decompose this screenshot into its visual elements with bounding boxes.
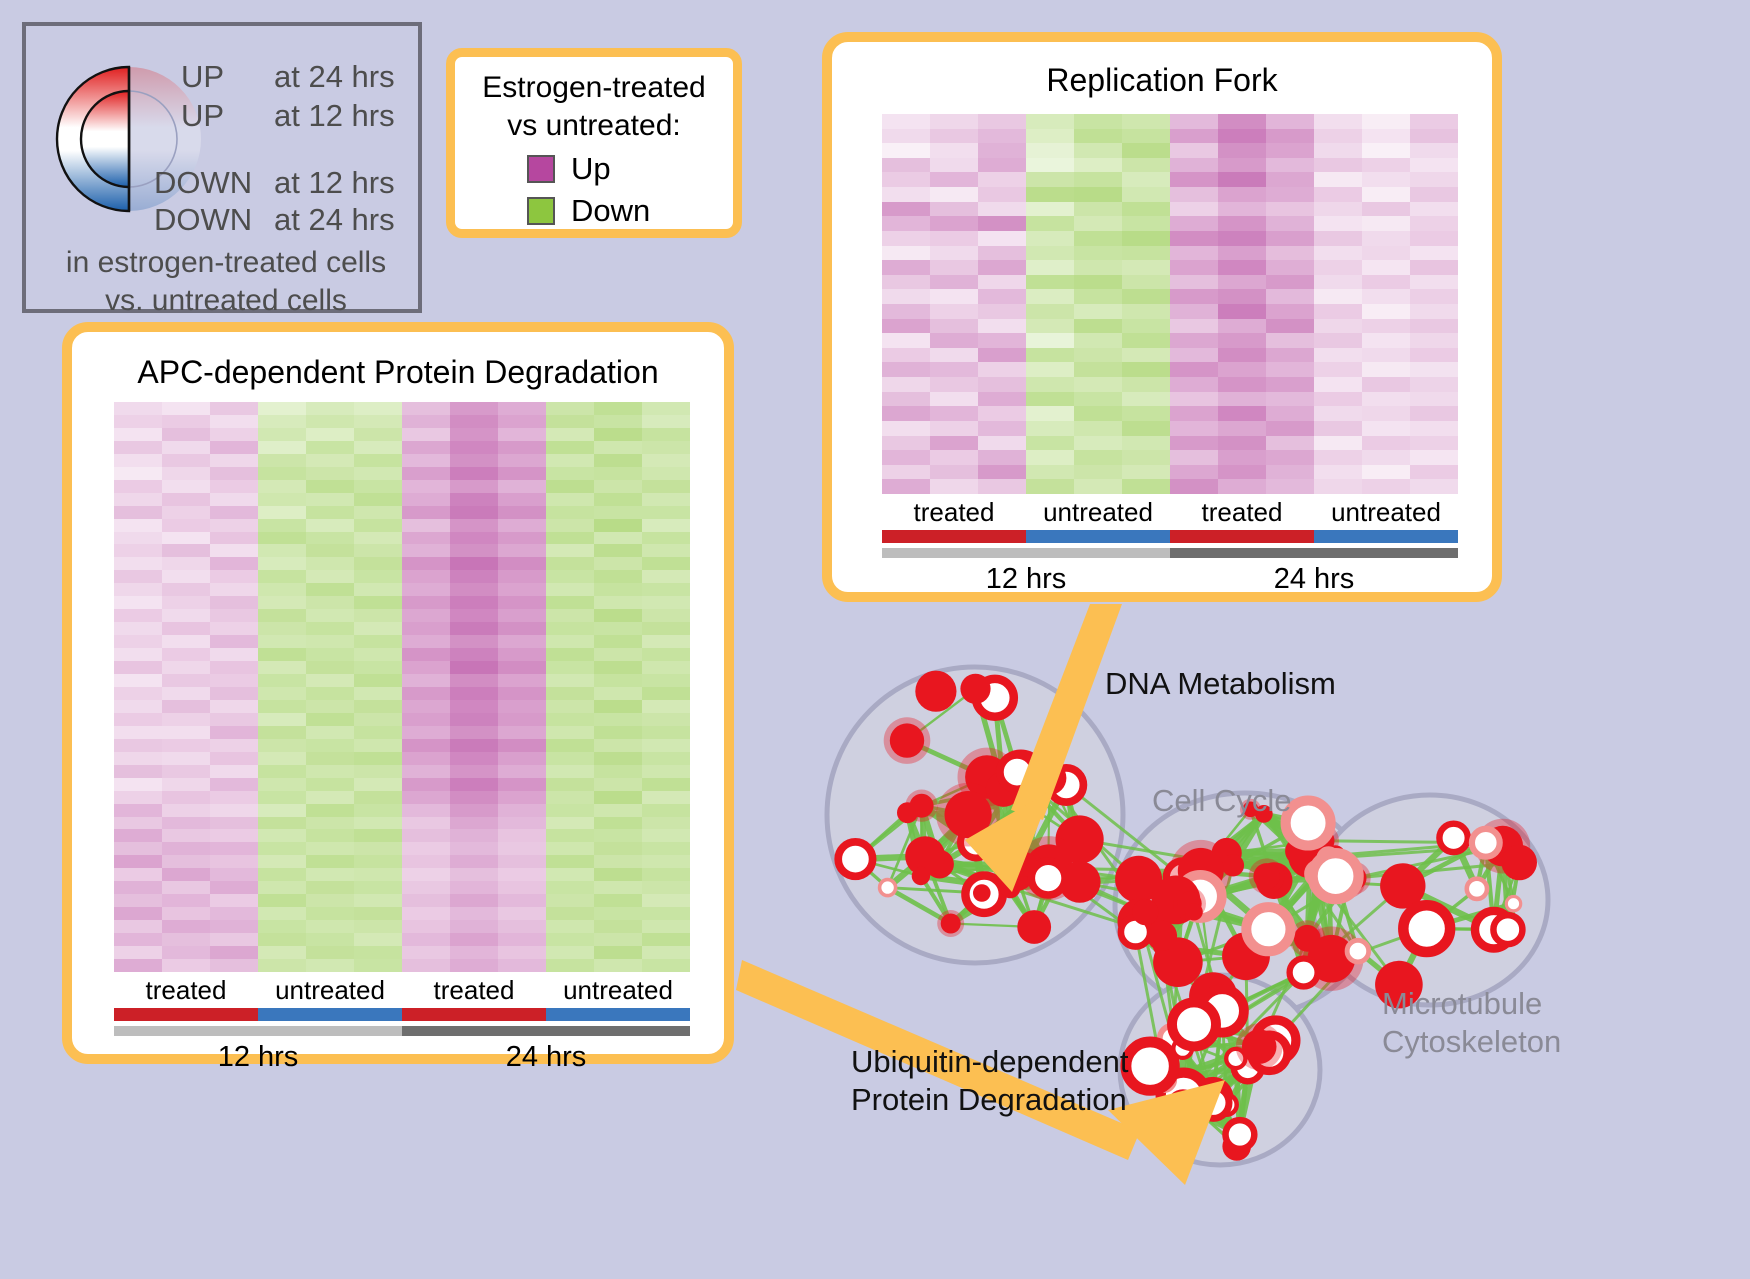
heatmap-cell [1218, 260, 1266, 275]
heatmap-cell [930, 231, 978, 246]
heatmap-cell [498, 583, 546, 596]
network-edge [1164, 1059, 1236, 1080]
heatmap-cell [162, 959, 210, 972]
heatmap-cell [930, 246, 978, 261]
network-edge [921, 806, 922, 876]
heatmap-cell [306, 804, 354, 817]
heatmap-cell [930, 406, 978, 421]
network-node [1290, 959, 1318, 987]
heatmap-cell [1122, 333, 1170, 348]
network-edge [1150, 1066, 1227, 1105]
network-node [1196, 1081, 1230, 1115]
network-node [1332, 864, 1366, 898]
network-node [1012, 852, 1037, 877]
network-edge [922, 789, 1004, 806]
network-edge [1310, 857, 1319, 874]
heatmap-cell [546, 959, 594, 972]
heatmap-cell [930, 465, 978, 480]
heatmap-cell [306, 765, 354, 778]
legend-caption: in estrogen-treated cells vs. untreated … [26, 244, 426, 320]
network-edge [1486, 843, 1514, 904]
heatmap-cell [882, 392, 930, 407]
network-edge [1213, 1098, 1237, 1147]
heatmap-cell [114, 804, 162, 817]
heatmap-cell [1314, 465, 1362, 480]
heatmap-cell [594, 804, 642, 817]
heatmap-cell [1026, 362, 1074, 377]
apc-time-bar-12 [114, 1026, 402, 1036]
heatmap-cell [930, 187, 978, 202]
heatmap-cell [882, 202, 930, 217]
network-edge [1173, 1038, 1183, 1048]
heatmap-cell [498, 829, 546, 842]
heatmap-cell [498, 635, 546, 648]
network-edge [1139, 879, 1162, 936]
network-edge [908, 813, 969, 815]
heatmap-cell [546, 907, 594, 920]
heatmap-cell [498, 752, 546, 765]
legend-row-0-label: UP [181, 59, 224, 95]
heatmap-cell [642, 648, 690, 661]
heatmap-cell [642, 493, 690, 506]
heatmap-cell [210, 752, 258, 765]
heatmap-cell [930, 289, 978, 304]
heatmap-cell [594, 583, 642, 596]
heatmap-cell [882, 362, 930, 377]
network-edge [1010, 882, 1080, 888]
heatmap-cell [930, 348, 978, 363]
apc-condition-bar [114, 1008, 690, 1021]
network-node [1294, 925, 1321, 952]
network-node [1173, 1039, 1192, 1058]
network-node [1319, 849, 1339, 869]
network-node [1177, 891, 1201, 915]
apc-cond-bar-2 [402, 1008, 546, 1021]
heatmap-cell [1266, 406, 1314, 421]
heatmap-cell [546, 506, 594, 519]
heatmap-cell [306, 920, 354, 933]
network-node [1475, 819, 1530, 874]
network-edge [1268, 855, 1335, 929]
network-edge [1150, 1066, 1213, 1103]
network-edge [1183, 956, 1246, 1048]
heatmap-cell [1074, 333, 1122, 348]
heatmap-cell [1074, 289, 1122, 304]
heatmap-cell [642, 635, 690, 648]
network-edge [1183, 1098, 1213, 1107]
heatmap-cell [450, 596, 498, 609]
replication-cond-bar-3 [1314, 530, 1458, 543]
heatmap-cell [882, 129, 930, 144]
network-edge [1267, 851, 1299, 876]
heatmap-cell [1026, 143, 1074, 158]
heatmap-cell [306, 739, 354, 752]
network-edge [1477, 843, 1486, 889]
network-edge [1162, 900, 1176, 936]
heatmap-cell [1074, 392, 1122, 407]
heatmap-cell [354, 907, 402, 920]
network-edge [1427, 904, 1514, 929]
heatmap-cell [306, 519, 354, 532]
panel-apc-title: APC-dependent Protein Degradation [72, 354, 724, 391]
heatmap-cell [1362, 436, 1410, 451]
heatmap-cell [258, 687, 306, 700]
heatmap-cell [1122, 231, 1170, 246]
apc-time-bar [114, 1026, 690, 1036]
heatmap-cell [354, 804, 402, 817]
heatmap-cell [1266, 114, 1314, 129]
heatmap-cell [1410, 436, 1458, 451]
replication-time-labels: 12 hrs 24 hrs [882, 563, 1458, 596]
connector-arrow-replication [1011, 604, 1122, 820]
network-edge [1299, 851, 1355, 878]
network-edge [908, 777, 987, 813]
heatmap-cell [882, 304, 930, 319]
heatmap-cell [114, 648, 162, 661]
network-edge [1194, 1024, 1236, 1058]
network-edge [1048, 778, 1049, 878]
network-edge [925, 856, 1015, 871]
network-edge [1183, 1049, 1240, 1135]
replication-condition-labels: treated untreated treated untreated [882, 497, 1458, 528]
heatmap-cell [402, 894, 450, 907]
heatmap-cell [306, 791, 354, 804]
heatmap-cell [546, 791, 594, 804]
network-edge [1136, 896, 1201, 932]
network-edge [1178, 962, 1222, 1011]
heatmap-cell [1026, 304, 1074, 319]
network-edge [1213, 1053, 1270, 1098]
heatmap-cell [1362, 421, 1410, 436]
heatmap-cell [402, 635, 450, 648]
network-node [1288, 835, 1331, 878]
heatmap-cell [1314, 216, 1362, 231]
heatmap-cell [1218, 289, 1266, 304]
heatmap-cell [1410, 275, 1458, 290]
heatmap-cell [882, 231, 930, 246]
heatmap-cell [306, 441, 354, 454]
network-edge [921, 876, 951, 924]
network-edge [907, 741, 987, 777]
network-edge [1268, 883, 1346, 930]
heatmap-cell [594, 713, 642, 726]
heatmap-cell [114, 428, 162, 441]
heatmap-cell [450, 428, 498, 441]
network-edge [1194, 912, 1268, 929]
heatmap-cell [162, 609, 210, 622]
legend-row-2-time: at 12 hrs [274, 165, 395, 201]
network-edge [1162, 946, 1246, 956]
legend-row-2-label: DOWN [154, 165, 252, 201]
heatmap-cell [402, 881, 450, 894]
apc-condition-labels: treated untreated treated untreated [114, 975, 690, 1006]
network-edge [1016, 868, 1049, 871]
heatmap-cell [498, 713, 546, 726]
heatmap-cell [546, 661, 594, 674]
network-edge [984, 864, 1025, 894]
network-edge [1049, 868, 1201, 871]
heatmap-cell [1122, 260, 1170, 275]
network-edge [1025, 864, 1139, 879]
network-edge [1176, 900, 1269, 929]
heatmap-cell [354, 493, 402, 506]
heatmap-cell [306, 868, 354, 881]
heatmap-cell [978, 348, 1026, 363]
heatmap-cell [1362, 465, 1410, 480]
heatmap-cell [210, 609, 258, 622]
heatmap-cell [1314, 260, 1362, 275]
heatmap-cell [450, 920, 498, 933]
network-edge [1227, 853, 1310, 857]
down-swatch-icon [527, 197, 555, 225]
heatmap-cell [306, 609, 354, 622]
network-edge [1136, 912, 1146, 932]
heatmap-cell [1266, 392, 1314, 407]
heatmap-cell [210, 804, 258, 817]
network-edge [1164, 1038, 1173, 1079]
heatmap-cell [258, 609, 306, 622]
network-edge [968, 777, 987, 815]
network-edge [1183, 973, 1304, 1049]
network-node [1325, 845, 1345, 865]
network-node [1304, 824, 1339, 859]
network-edge [1335, 855, 1348, 881]
heatmap-cell [1266, 465, 1314, 480]
network-edge [1227, 841, 1322, 853]
heatmap-cell [210, 544, 258, 557]
key-title-line2: vs untreated: [455, 107, 733, 145]
network-edge [1274, 841, 1322, 881]
heatmap-cell [1410, 377, 1458, 392]
network-node [1153, 936, 1172, 955]
apc-time-label-24: 24 hrs [402, 1041, 690, 1074]
heatmap-cell [498, 454, 546, 467]
heatmap-cell [882, 187, 930, 202]
heatmap-cell [1314, 450, 1362, 465]
heatmap-cell [210, 493, 258, 506]
heatmap-cell [882, 436, 930, 451]
heatmap-cell [306, 480, 354, 493]
heatmap-cell [114, 920, 162, 933]
network-edge [1328, 858, 1331, 958]
heatmap-cell [210, 635, 258, 648]
network-node [1032, 761, 1066, 795]
network-node [897, 802, 918, 823]
network-edge [1304, 959, 1332, 973]
heatmap-cell [114, 635, 162, 648]
heatmap-cell [1122, 465, 1170, 480]
network-node [1313, 853, 1359, 899]
heatmap-cell [930, 362, 978, 377]
network-edge [1184, 1024, 1195, 1095]
network-edge [1183, 1047, 1259, 1107]
heatmap-cell [978, 377, 1026, 392]
heatmap-cell [1170, 362, 1218, 377]
network-node [1226, 1120, 1255, 1149]
heatmap-cell [978, 319, 1026, 334]
heatmap-cell [498, 907, 546, 920]
heatmap-cell [210, 791, 258, 804]
heatmap-cell [258, 778, 306, 791]
network-edge [1222, 959, 1331, 1011]
network-edge [1173, 1038, 1213, 1097]
heatmap-cell [498, 726, 546, 739]
heatmap-cell [546, 635, 594, 648]
heatmap-cell [162, 713, 210, 726]
heatmap-cell [594, 428, 642, 441]
heatmap-cell [1170, 143, 1218, 158]
heatmap-cell [258, 726, 306, 739]
heatmap-cell [1314, 187, 1362, 202]
heatmap-cell [306, 894, 354, 907]
network-edge [1016, 872, 1080, 883]
network-edge [1274, 855, 1335, 880]
heatmap-cell [162, 557, 210, 570]
network-edge [1016, 840, 1080, 872]
heatmap-cell [594, 441, 642, 454]
network-node [1031, 861, 1065, 895]
heatmap-cell [1026, 436, 1074, 451]
network-edge [987, 777, 1016, 872]
heatmap-cell [402, 609, 450, 622]
network-node [965, 876, 1002, 913]
heatmap-cell [978, 421, 1026, 436]
heatmap-cell [210, 778, 258, 791]
heatmap-cell [306, 713, 354, 726]
heatmap-cell [594, 622, 642, 635]
heatmap-cell [642, 687, 690, 700]
heatmap-cell [1026, 479, 1074, 494]
heatmap-cell [594, 959, 642, 972]
heatmap-cell [402, 557, 450, 570]
heatmap-cell [1122, 377, 1170, 392]
heatmap-cell [1026, 187, 1074, 202]
heatmap-cell [1122, 114, 1170, 129]
heatmap-cell [258, 933, 306, 946]
network-edge [1183, 1049, 1214, 1103]
network-edge [1176, 881, 1274, 900]
heatmap-cell [546, 480, 594, 493]
network-edge [1010, 888, 1034, 927]
heatmap-cell [642, 868, 690, 881]
heatmap-cell [306, 648, 354, 661]
heatmap-cell [498, 855, 546, 868]
network-node [1347, 940, 1369, 962]
heatmap-cell [1170, 216, 1218, 231]
network-edge [1233, 865, 1319, 873]
network-edge [1139, 879, 1146, 912]
heatmap-cell [546, 920, 594, 933]
heatmap-cell [594, 557, 642, 570]
network-node [986, 772, 1021, 807]
heatmap-cell [1362, 187, 1410, 202]
heatmap-cell [1218, 319, 1266, 334]
network-edge [1178, 929, 1269, 962]
heatmap-cell [402, 661, 450, 674]
network-edge [1349, 878, 1355, 881]
heatmap-cell [354, 570, 402, 583]
heatmap-cell [498, 402, 546, 415]
heatmap-cell [450, 583, 498, 596]
heatmap-cell [450, 635, 498, 648]
heatmap-cell [1314, 304, 1362, 319]
heatmap-cell [114, 506, 162, 519]
heatmap-cell [402, 959, 450, 972]
heatmap-cell [1362, 246, 1410, 261]
heatmap-cell [1314, 362, 1362, 377]
network-edge [1267, 876, 1355, 878]
heatmap-cell [114, 726, 162, 739]
heatmap-cell [306, 544, 354, 557]
network-edge [1010, 868, 1049, 888]
network-edge [1136, 879, 1139, 932]
heatmap-cell [162, 700, 210, 713]
heatmap-cell [594, 519, 642, 532]
heatmap-cell [306, 570, 354, 583]
heatmap-cell [594, 778, 642, 791]
replication-time-bar-12 [882, 548, 1170, 558]
heatmap-cell [642, 557, 690, 570]
heatmap-cell [306, 674, 354, 687]
heatmap-cell [882, 289, 930, 304]
network-edge [1403, 843, 1486, 886]
network-edge [1304, 886, 1403, 973]
heatmap-cell [354, 648, 402, 661]
network-edge [1183, 877, 1201, 896]
heatmap-cell [162, 907, 210, 920]
network-edge [976, 843, 984, 895]
heatmap-cell [210, 765, 258, 778]
heatmap-cell [162, 493, 210, 506]
network-edge [1233, 855, 1335, 865]
heatmap-cell [354, 765, 402, 778]
network-edge [888, 806, 922, 888]
heatmap-replication-fork [882, 114, 1458, 494]
heatmap-cell [402, 583, 450, 596]
heatmap-cell [1410, 202, 1458, 217]
heatmap-cell [258, 946, 306, 959]
heatmap-cell [642, 544, 690, 557]
heatmap-cell [642, 596, 690, 609]
network-node [880, 880, 896, 896]
network-edge [1427, 929, 1494, 930]
network-edge [951, 894, 984, 923]
heatmap-cell [1074, 172, 1122, 187]
heatmap-cell [1026, 421, 1074, 436]
heatmap-cell [882, 465, 930, 480]
heatmap-cell [210, 946, 258, 959]
heatmap-cell [498, 920, 546, 933]
heatmap-cell [882, 114, 930, 129]
heatmap-cell [1074, 231, 1122, 246]
network-node [1222, 854, 1244, 876]
heatmap-cell [978, 216, 1026, 231]
network-edge [1183, 1011, 1223, 1049]
heatmap-cell [978, 392, 1026, 407]
heatmap-cell [1266, 377, 1314, 392]
heatmap-cell [114, 933, 162, 946]
heatmap-cell [306, 855, 354, 868]
heatmap-cell [402, 907, 450, 920]
legend-row-3-label: DOWN [154, 202, 252, 238]
heatmap-cell [210, 881, 258, 894]
heatmap-cell [114, 739, 162, 752]
heatmap-cell [1170, 436, 1218, 451]
heatmap-cell [1218, 172, 1266, 187]
network-node [1217, 1095, 1237, 1115]
heatmap-cell [114, 687, 162, 700]
heatmap-cell [402, 946, 450, 959]
